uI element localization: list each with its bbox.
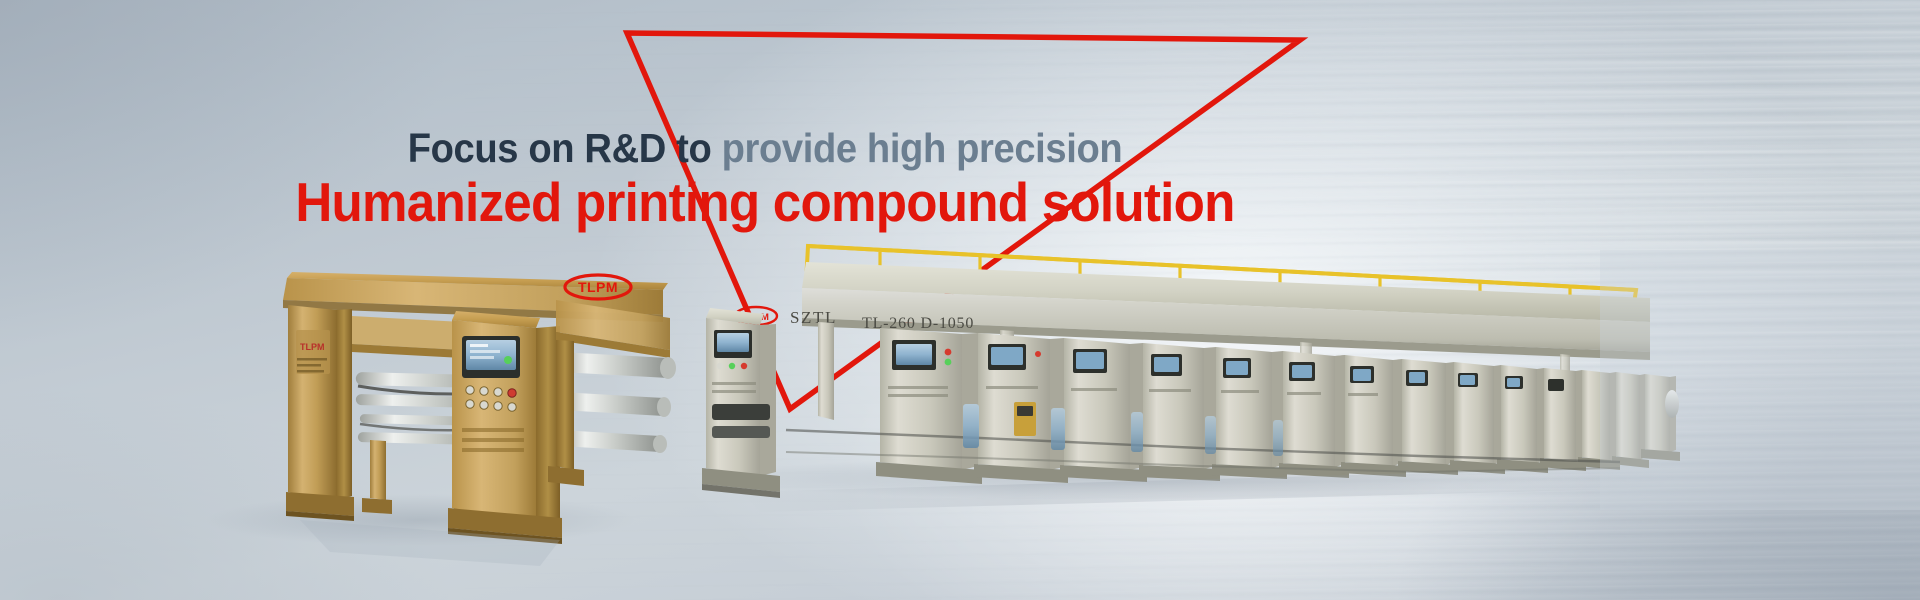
- left-rewind-arms: [548, 300, 676, 486]
- right-unwind-tower: [702, 308, 780, 498]
- left-shaft-group: [560, 352, 676, 453]
- left-unwind-column: TLPM: [286, 305, 354, 521]
- right-print-unit: [1497, 365, 1548, 473]
- right-print-unit: [1139, 343, 1220, 481]
- left-print-tower: [448, 311, 562, 544]
- svg-text:TLPM: TLPM: [300, 342, 325, 352]
- svg-text:TLPM: TLPM: [578, 279, 618, 295]
- right-print-unit: [1279, 351, 1349, 478]
- headline-line-1: Focus on R&D to provide high precision: [54, 128, 1477, 169]
- right-control-box: [1014, 402, 1036, 436]
- right-print-unit: [1540, 368, 1586, 471]
- right-machine-model-text: TL-260 D-1050: [862, 315, 974, 332]
- promotional-banner: Focus on R&D to provide high precision H…: [0, 0, 1920, 600]
- machinery-illustration: TLPM TLPM: [0, 0, 1920, 600]
- headline-block: Focus on R&D to provide high precision H…: [0, 128, 1530, 230]
- right-print-unit: [1212, 347, 1287, 479]
- headline-line-2: Humanized printing compound solution: [54, 175, 1477, 230]
- right-main-beam: TLPM SZTL TL-260 D-1050: [735, 262, 1650, 360]
- headline-line-1-secondary: provide high precision: [722, 125, 1123, 171]
- headline-line-1-primary: Focus on R&D to: [408, 125, 722, 171]
- right-print-unit: [1341, 355, 1406, 477]
